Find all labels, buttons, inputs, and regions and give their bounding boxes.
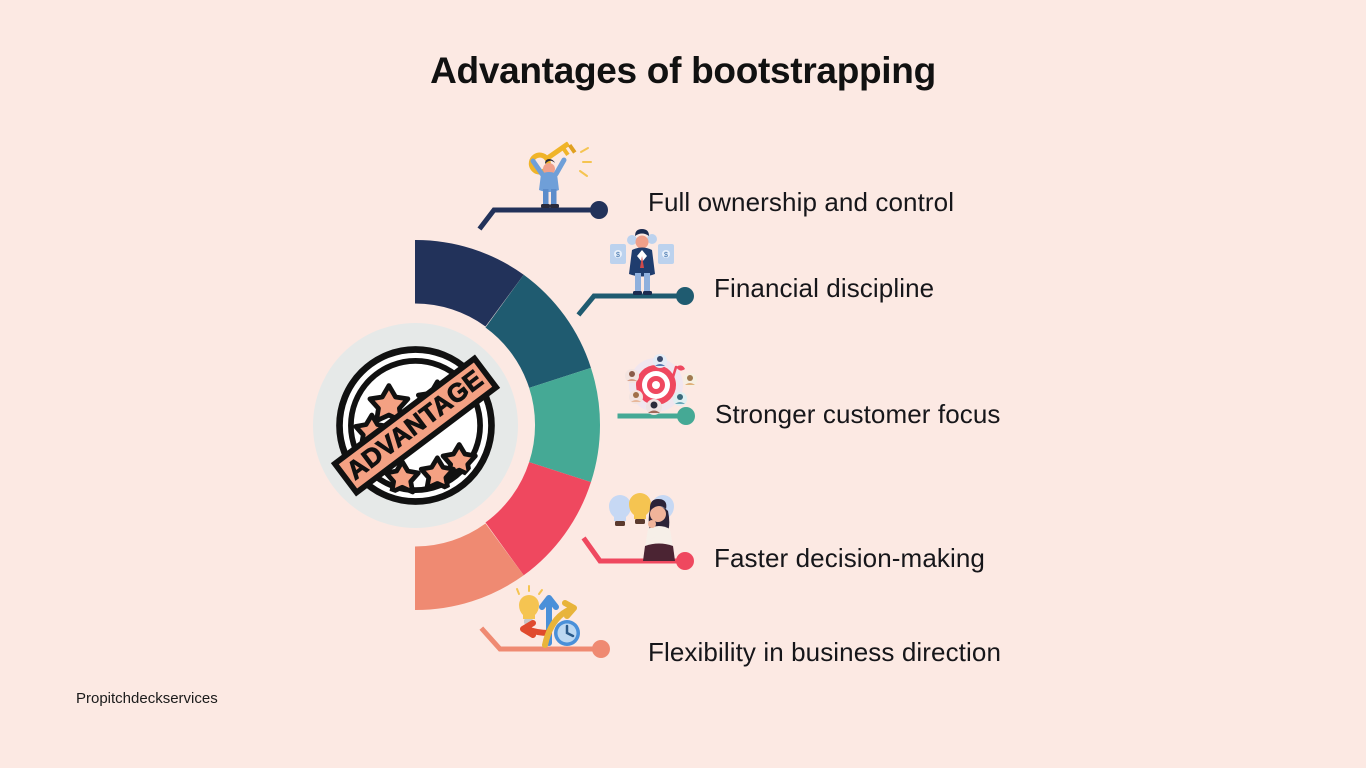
- lightbulb-arrows-clock-icon: [509, 585, 597, 649]
- slide-canvas: Advantages of bootstrapping: [0, 0, 1366, 768]
- advantage-label-5: Flexibility in business direction: [648, 637, 1001, 668]
- footer-brand: Propitchdeckservices: [76, 690, 218, 707]
- bootstrapping-advantages-infographic: ADVANTAGE: [0, 0, 1366, 768]
